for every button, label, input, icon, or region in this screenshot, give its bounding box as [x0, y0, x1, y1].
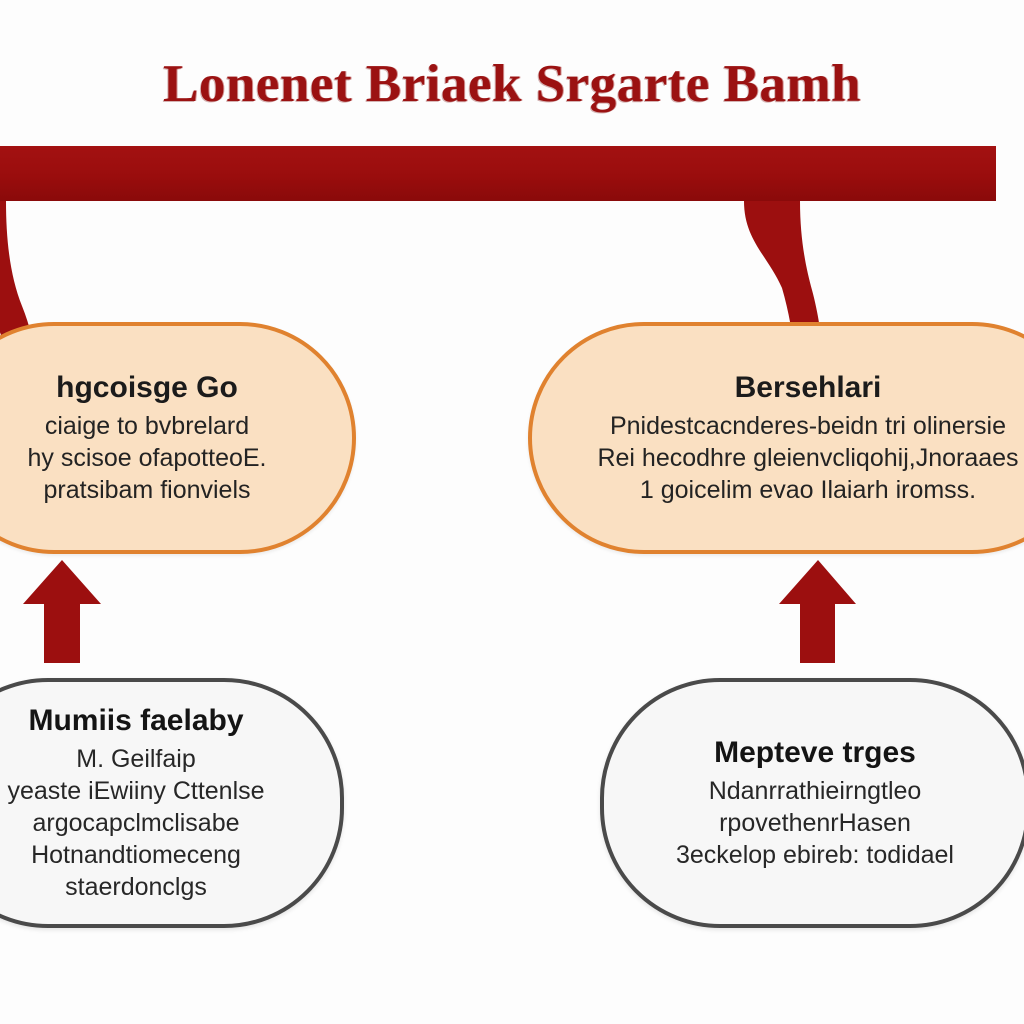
- node-line: 3eckelop ebireb: todidael: [676, 839, 954, 871]
- node-line: Rei hecodhre gleienvcliqohij,Jnoraaes: [597, 442, 1018, 474]
- node-line: ciaige to bvbrelard: [0, 410, 326, 442]
- node-line: Pnidestcacnderes-beidn tri olinersie: [610, 410, 1006, 442]
- node-right-orange[interactable]: Bersehlari Pnidestcacnderes-beidn tri ol…: [528, 322, 1024, 554]
- node-line: hy scisoe ofapotteoE.: [0, 442, 326, 474]
- top-bar-spine: [0, 146, 996, 201]
- arrow-up-right: [779, 560, 856, 663]
- node-left-orange[interactable]: hgcoisge Go ciaige to bvbrelard hy sciso…: [0, 322, 356, 554]
- node-line: argocapclmclisabe: [0, 807, 314, 839]
- node-line: Ndanrrathieirngtleo: [709, 775, 922, 807]
- node-line: pratsibam fionviels: [0, 474, 326, 506]
- node-title: hgcoisge Go: [0, 370, 326, 405]
- node-line: yeaste iEwiiny Cttenlse: [0, 775, 314, 807]
- node-title: Mumiis faelaby: [0, 703, 314, 738]
- node-line: M. Geilfaip: [0, 743, 314, 775]
- node-left-gray[interactable]: Mumiis faelaby M. Geilfaip yeaste iEwiin…: [0, 678, 344, 928]
- node-title: Bersehlari: [735, 370, 882, 405]
- node-line: staerdonclgs: [0, 871, 314, 903]
- node-line: Hotnandtiomeceng: [0, 839, 314, 871]
- diagram-canvas: Lonenet Briaek Srgarte Bamh hgcoisge Go …: [0, 0, 1024, 1024]
- node-title: Mepteve trges: [714, 735, 916, 770]
- node-line: rpovethenrHasen: [719, 807, 911, 839]
- node-right-gray[interactable]: Mepteve trges Ndanrrathieirngtleo rpovet…: [600, 678, 1024, 928]
- arrow-up-left: [23, 560, 101, 663]
- node-line: 1 goicelim evao Ilaiarh iromss.: [640, 474, 976, 506]
